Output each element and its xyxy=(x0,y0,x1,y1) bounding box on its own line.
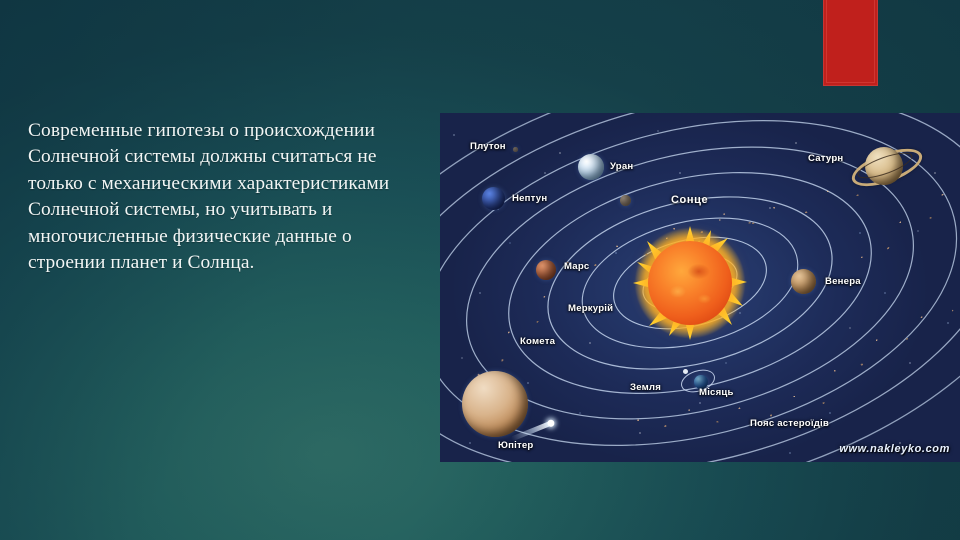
planet-uranus xyxy=(578,154,604,180)
planet-mercury xyxy=(620,195,631,206)
label-mars: Марс xyxy=(564,261,589,272)
label-mercury: Меркурій xyxy=(568,303,613,314)
label-saturn: Сатурн xyxy=(808,153,843,164)
label-venus: Венера xyxy=(825,276,861,287)
solar-system-diagram: Плутон Уран Нептун Сатурн Сонце Марс Вен… xyxy=(440,113,960,462)
label-uranus: Уран xyxy=(610,161,633,172)
planet-saturn xyxy=(852,139,916,191)
label-pluto: Плутон xyxy=(470,141,506,152)
label-jupiter: Юпітер xyxy=(498,440,533,451)
planet-jupiter xyxy=(462,371,528,437)
slide-canvas: Современные гипотезы о происхождении Сол… xyxy=(0,0,960,540)
label-neptune: Нептун xyxy=(512,193,547,204)
red-accent-block xyxy=(823,0,878,86)
label-sun: Сонце xyxy=(671,194,708,206)
planet-neptune xyxy=(482,187,505,210)
watermark: www.nakleyko.com xyxy=(839,443,950,455)
sun xyxy=(648,241,732,325)
label-asteroid-belt: Пояс астероїдів xyxy=(750,418,829,429)
planet-mars xyxy=(536,260,556,280)
label-earth: Земля xyxy=(630,382,661,393)
sun-core xyxy=(648,241,732,325)
body-paragraph: Современные гипотезы о происхождении Сол… xyxy=(28,118,420,276)
label-comet: Комета xyxy=(520,336,555,347)
planet-pluto xyxy=(513,147,518,152)
planet-venus xyxy=(791,269,816,294)
label-moon: Місяць xyxy=(699,387,734,398)
